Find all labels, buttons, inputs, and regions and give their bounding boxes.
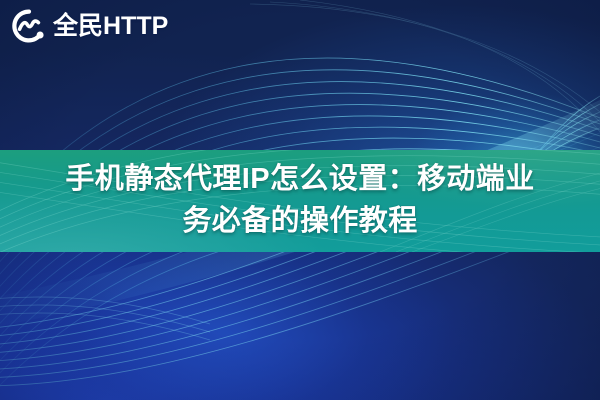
- promo-banner: 手机静态代理IP怎么设置：移动端业 务必备的操作教程 全民HTTP: [0, 0, 600, 400]
- brand-logo[interactable]: 全民HTTP: [12, 9, 168, 43]
- circular-q-mountain-logo-icon: [12, 9, 46, 43]
- headline-text: 手机静态代理IP怎么设置：移动端业 务必备的操作教程: [0, 158, 600, 242]
- brand-name: 全民HTTP: [53, 14, 168, 39]
